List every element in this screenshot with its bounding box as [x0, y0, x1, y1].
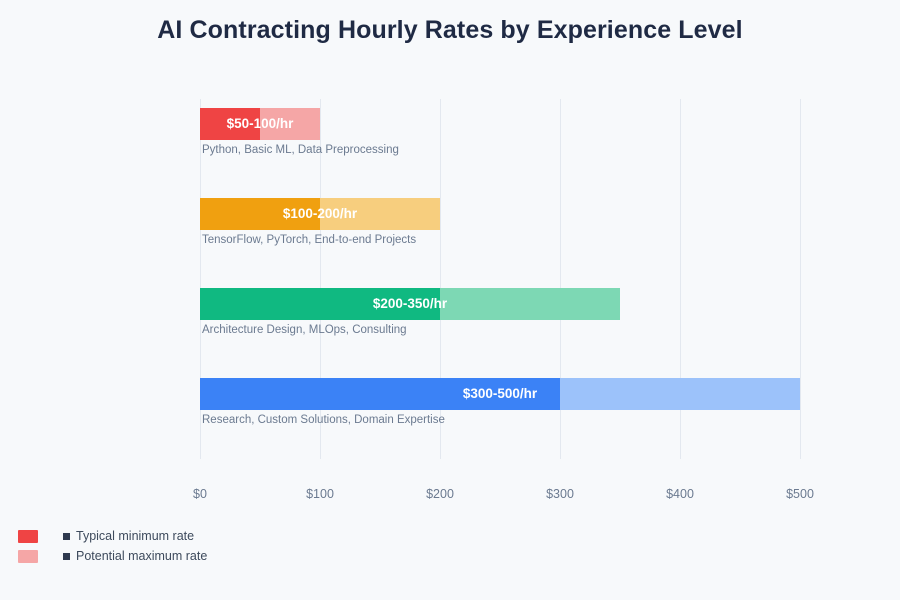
gridline-500 — [800, 99, 801, 459]
chart-row: Expert/Specialist$300-500/hrResearch, Cu… — [200, 369, 800, 459]
x-axis-tick-label: $400 — [640, 487, 720, 501]
x-axis-tick-label: $300 — [520, 487, 600, 501]
chart-container: AI Contracting Hourly Rates by Experienc… — [0, 0, 900, 600]
bar-description: Research, Custom Solutions, Domain Exper… — [202, 414, 445, 426]
bar-segment-minimum[interactable] — [200, 198, 320, 230]
x-axis-tick-label: $0 — [160, 487, 240, 501]
chart-row: Mid Level$100-200/hrTensorFlow, PyTorch,… — [200, 189, 800, 279]
bar-entry-level[interactable] — [200, 108, 320, 140]
bar-segment-maximum[interactable] — [260, 108, 320, 140]
bar-segment-minimum[interactable] — [200, 378, 560, 410]
bar-expert-specialist[interactable] — [200, 378, 800, 410]
plot-area: Entry Level$50-100/hrPython, Basic ML, D… — [200, 99, 800, 459]
bar-segment-maximum[interactable] — [440, 288, 620, 320]
chart-row: Senior Level$200-350/hrArchitecture Desi… — [200, 279, 800, 369]
legend-swatch — [18, 550, 38, 563]
bar-segment-maximum[interactable] — [560, 378, 800, 410]
bar-segment-minimum[interactable] — [200, 108, 260, 140]
legend-swatch — [18, 530, 38, 543]
bar-segment-maximum[interactable] — [320, 198, 440, 230]
legend-item[interactable]: Potential maximum rate — [18, 546, 207, 566]
x-axis-tick-label: $500 — [760, 487, 840, 501]
chart-title: AI Contracting Hourly Rates by Experienc… — [0, 16, 900, 45]
x-axis-tick-label: $100 — [280, 487, 360, 501]
bar-mid-level[interactable] — [200, 198, 440, 230]
legend-bullet-icon — [63, 553, 70, 560]
legend-item[interactable]: Typical minimum rate — [18, 526, 207, 546]
bar-senior-level[interactable] — [200, 288, 620, 320]
legend-bullet-icon — [63, 533, 70, 540]
x-axis-tick-label: $200 — [400, 487, 480, 501]
legend-label: Typical minimum rate — [76, 529, 194, 543]
bar-description: TensorFlow, PyTorch, End-to-end Projects — [202, 234, 416, 246]
bar-description: Python, Basic ML, Data Preprocessing — [202, 144, 399, 156]
chart-legend: Typical minimum ratePotential maximum ra… — [18, 526, 207, 566]
chart-row: Entry Level$50-100/hrPython, Basic ML, D… — [200, 99, 800, 189]
legend-label: Potential maximum rate — [76, 549, 207, 563]
bar-description: Architecture Design, MLOps, Consulting — [202, 324, 407, 336]
bar-segment-minimum[interactable] — [200, 288, 440, 320]
